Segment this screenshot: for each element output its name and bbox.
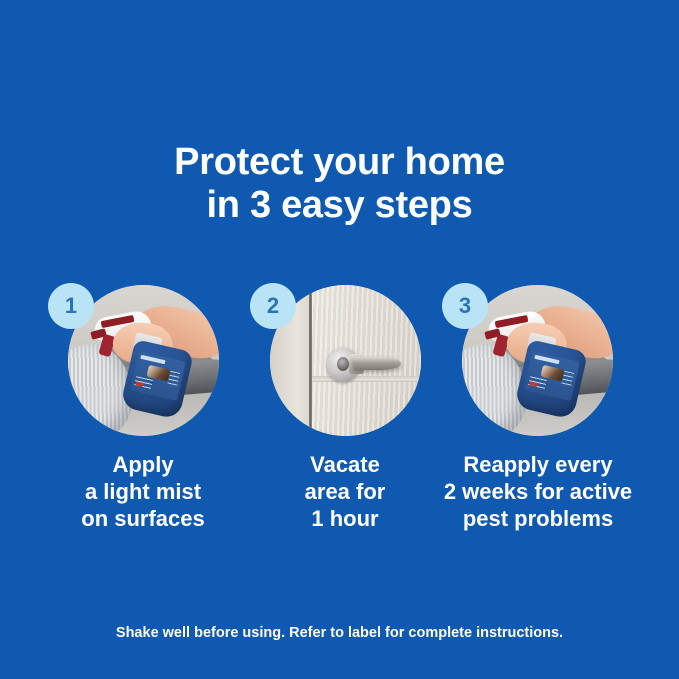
step-caption-1: Apply a light mist on surfaces <box>32 451 254 532</box>
step-2-caption-line-2: area for <box>234 478 456 505</box>
step-item-2: 2 Vacate area for 1 hour <box>246 283 436 438</box>
footer-disclaimer: Shake well before using. Refer to label … <box>0 623 679 643</box>
door-jamb-gap <box>309 285 312 436</box>
step-item-1: 1 Apply a light mist on surfaces <box>48 283 238 438</box>
step-3-caption-line-2: 2 weeks for active <box>425 478 651 505</box>
step-number-badge-1: 1 <box>48 283 94 329</box>
door-lever-handle <box>353 357 401 370</box>
bottle-label-text-lines-right <box>167 371 180 387</box>
headline-line-1: Protect your home <box>0 141 679 184</box>
step-number-1: 1 <box>65 295 77 317</box>
bottle-label-text-lines-right <box>561 371 574 387</box>
step-number-badge-3: 3 <box>442 283 488 329</box>
step-number-badge-2: 2 <box>250 283 296 329</box>
headline-line-2: in 3 easy steps <box>0 184 679 227</box>
step-3-photo-wrap: 3 <box>441 283 631 438</box>
bottle-brand-mark <box>534 355 559 365</box>
step-1-caption-line-1: Apply <box>32 451 254 478</box>
page-title: Protect your home in 3 easy steps <box>0 141 679 227</box>
step-caption-2: Vacate area for 1 hour <box>234 451 456 532</box>
step-1-caption-line-2: a light mist <box>32 478 254 505</box>
bottle-label <box>524 352 580 402</box>
step-2-caption-line-1: Vacate <box>234 451 456 478</box>
poster-canvas: Protect your home in 3 easy steps <box>0 0 679 679</box>
step-caption-3: Reapply every 2 weeks for active pest pr… <box>425 451 651 532</box>
step-3-caption-line-1: Reapply every <box>425 451 651 478</box>
step-1-photo-wrap: 1 <box>48 283 238 438</box>
step-1-caption-line-3: on surfaces <box>32 505 254 532</box>
bottle-label <box>130 352 186 402</box>
step-item-3: 3 Reapply every 2 weeks for active pest … <box>441 283 631 438</box>
step-number-2: 2 <box>267 295 279 317</box>
step-3-caption-line-3: pest problems <box>425 505 651 532</box>
door-rail <box>312 376 421 382</box>
step-2-caption-line-3: 1 hour <box>234 505 456 532</box>
step-2-photo-wrap: 2 <box>246 283 436 438</box>
bottle-brand-mark <box>140 355 165 365</box>
steps-row: 1 Apply a light mist on surfaces <box>0 283 679 543</box>
step-number-3: 3 <box>459 295 471 317</box>
